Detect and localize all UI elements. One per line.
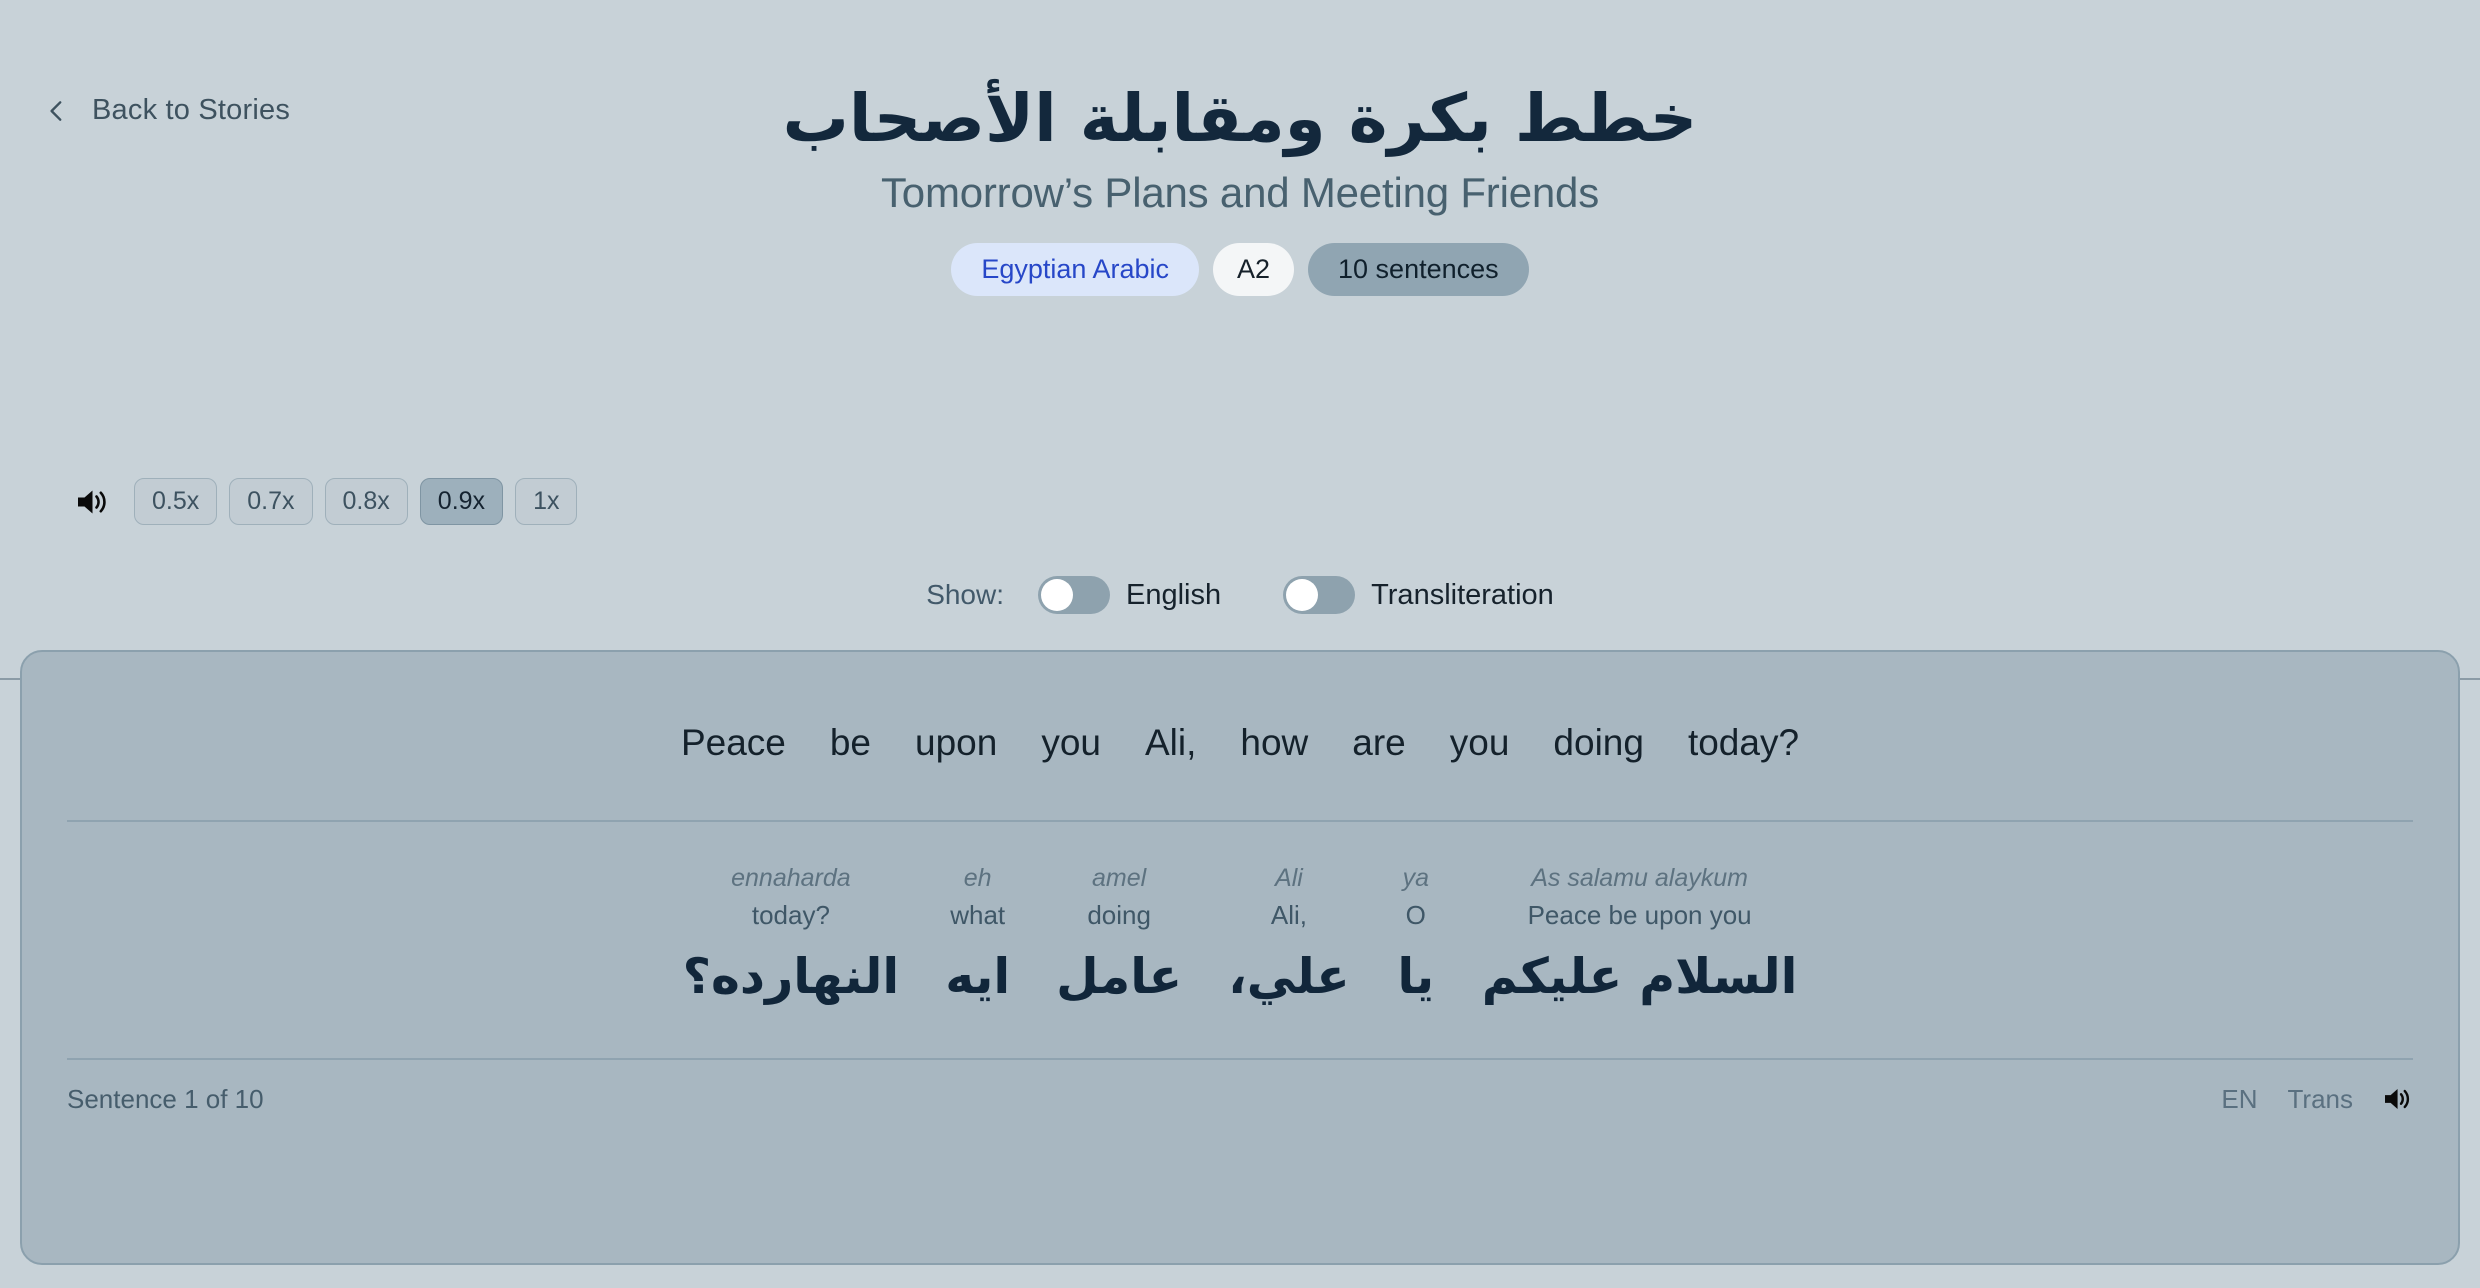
english-word[interactable]: are [1352, 722, 1405, 764]
word-gloss: what [950, 898, 1005, 933]
sentence-counter: Sentence 1 of 10 [67, 1084, 264, 1115]
word-arabic: النهارده؟ [683, 941, 900, 1012]
footer-toggle-trans[interactable]: Trans [2288, 1084, 2354, 1115]
word-arabic: السلام عليكم [1482, 941, 1798, 1012]
speaker-icon[interactable] [76, 487, 110, 517]
show-options-row: Show: English Transliteration [0, 576, 2480, 614]
toggle-transliteration[interactable] [1283, 576, 1355, 614]
word-gloss: today? [752, 898, 830, 933]
word-column[interactable]: amel doing عامل [1056, 862, 1182, 1013]
toggle-english-knob [1041, 579, 1073, 611]
english-word[interactable]: be [830, 722, 871, 764]
back-to-stories-button[interactable]: Back to Stories [44, 94, 290, 127]
footer-toggle-en[interactable]: EN [2221, 1084, 2257, 1115]
badge-level: A2 [1213, 243, 1294, 296]
word-gloss: Peace be upon you [1528, 898, 1752, 933]
word-column[interactable]: As salamu alaykum Peace be upon you السل… [1482, 862, 1798, 1013]
english-word[interactable]: how [1240, 722, 1308, 764]
word-column[interactable]: ya O يا [1396, 862, 1436, 1013]
card-footer: Sentence 1 of 10 EN Trans [22, 1060, 2458, 1115]
english-word[interactable]: Peace [681, 722, 786, 764]
speed-button-group: 0.5x 0.7x 0.8x 0.9x 1x [134, 478, 577, 525]
english-word[interactable]: upon [915, 722, 997, 764]
word-transliteration: ya [1403, 862, 1429, 896]
english-word[interactable]: doing [1553, 722, 1644, 764]
chevron-left-icon [44, 98, 70, 124]
story-title-english: Tomorrow’s Plans and Meeting Friends [0, 169, 2480, 217]
sentence-card: Peace be upon you Ali, how are you doing… [20, 650, 2460, 1265]
word-column[interactable]: ennaharda today? النهارده؟ [683, 862, 900, 1013]
word-gloss: Ali, [1271, 898, 1307, 933]
badge-language: Egyptian Arabic [951, 243, 1199, 296]
badge-sentence-count: 10 sentences [1308, 243, 1529, 296]
word-arabic: عامل [1056, 941, 1182, 1012]
word-arabic: علي، [1228, 941, 1350, 1012]
toggle-english-label: English [1126, 579, 1221, 612]
word-gloss: O [1406, 898, 1426, 933]
story-badges: Egyptian Arabic A2 10 sentences [0, 243, 2480, 296]
story-header: Back to Stories خطط بكرة ومقابلة الأصحاب… [0, 78, 2480, 680]
toggle-english[interactable] [1038, 576, 1110, 614]
toggle-transliteration-label: Transliteration [1371, 579, 1554, 612]
toggle-group-english: English [1038, 576, 1221, 614]
word-transliteration: ennaharda [731, 862, 851, 896]
english-word[interactable]: Ali, [1145, 722, 1196, 764]
speed-button-0-9x[interactable]: 0.9x [420, 478, 503, 525]
story-title-arabic: خطط بكرة ومقابلة الأصحاب [0, 78, 2480, 161]
word-transliteration: eh [964, 862, 992, 896]
footer-controls: EN Trans [2221, 1084, 2413, 1115]
playback-speed-controls: 0.5x 0.7x 0.8x 0.9x 1x [76, 478, 577, 525]
english-word[interactable]: today? [1688, 722, 1799, 764]
speed-button-0-5x[interactable]: 0.5x [134, 478, 217, 525]
back-to-stories-label: Back to Stories [92, 94, 290, 127]
word-by-word-row: As salamu alaykum Peace be upon you السل… [22, 822, 2458, 1013]
speed-button-1x[interactable]: 1x [515, 478, 577, 525]
word-arabic: يا [1397, 941, 1434, 1012]
word-transliteration: Ali [1275, 862, 1303, 896]
english-sentence-line: Peace be upon you Ali, how are you doing… [22, 652, 2458, 764]
english-word[interactable]: you [1450, 722, 1510, 764]
speed-button-0-8x[interactable]: 0.8x [325, 478, 408, 525]
word-arabic: ايه [945, 941, 1010, 1012]
show-label: Show: [926, 579, 1004, 611]
speaker-icon[interactable] [2383, 1086, 2413, 1112]
word-gloss: doing [1087, 898, 1151, 933]
word-transliteration: As salamu alaykum [1531, 862, 1748, 896]
speed-button-0-7x[interactable]: 0.7x [229, 478, 312, 525]
english-word[interactable]: you [1041, 722, 1101, 764]
toggle-group-transliteration: Transliteration [1283, 576, 1554, 614]
toggle-transliteration-knob [1286, 579, 1318, 611]
word-column[interactable]: eh what ايه [945, 862, 1010, 1013]
word-column[interactable]: Ali Ali, علي، [1228, 862, 1350, 1013]
word-transliteration: amel [1092, 862, 1146, 896]
